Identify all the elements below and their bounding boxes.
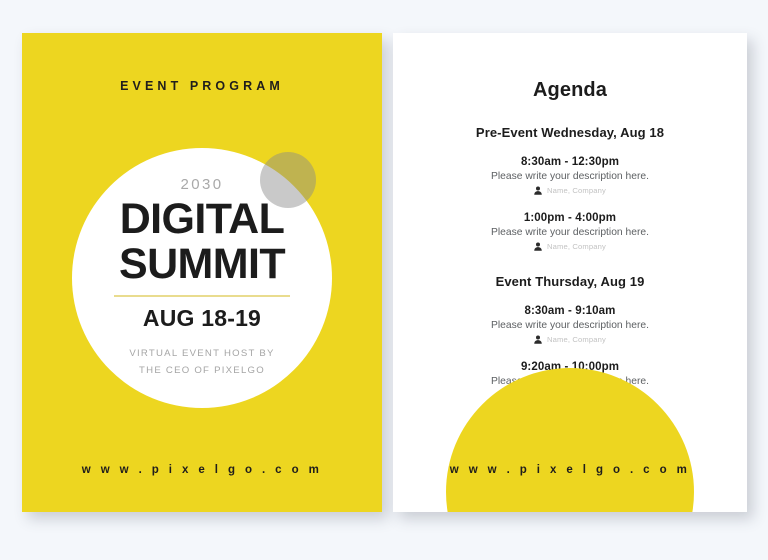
agenda-slot-speaker-name: Name, Company	[547, 186, 606, 195]
cover-title-line-2: SUMMIT	[119, 242, 285, 286]
cover-title-line-1: DIGITAL	[120, 197, 285, 241]
agenda-slot: 8:30am - 12:30pm Please write your descr…	[419, 156, 721, 195]
event-program-cover-poster: EVENT PROGRAM 2030 DIGITAL SUMMIT AUG 18…	[22, 33, 382, 512]
agenda-day-group: Pre-Event Wednesday, Aug 18 8:30am - 12:…	[419, 125, 721, 251]
agenda-slot: 1:00pm - 4:00pm Please write your descri…	[419, 212, 721, 251]
agenda-poster: Agenda Pre-Event Wednesday, Aug 18 8:30a…	[393, 33, 747, 512]
cover-title-block: 2030 DIGITAL SUMMIT AUG 18-19 VIRTUAL EV…	[72, 148, 332, 408]
cover-year-label: 2030	[181, 176, 224, 193]
cover-host-line-1: VIRTUAL EVENT HOST BY	[129, 346, 274, 363]
agenda-slot-speaker: Name, Company	[419, 335, 721, 344]
person-icon	[534, 186, 542, 195]
person-icon	[534, 335, 542, 344]
cover-dates-label: AUG 18-19	[143, 305, 261, 332]
cover-host-line-2: THE CEO OF PIXELGO	[129, 363, 274, 380]
agenda-slot-speaker: Name, Company	[419, 186, 721, 195]
poster-mockup-stage: EVENT PROGRAM 2030 DIGITAL SUMMIT AUG 18…	[0, 0, 768, 560]
agenda-slot-speaker-name: Name, Company	[547, 335, 606, 344]
cover-kicker-label: EVENT PROGRAM	[22, 79, 382, 93]
agenda-slot: 8:30am - 9:10am Please write your descri…	[419, 305, 721, 344]
agenda-page-title: Agenda	[393, 79, 747, 102]
agenda-day-list: Pre-Event Wednesday, Aug 18 8:30am - 12:…	[393, 125, 747, 400]
agenda-slot-speaker-name: Name, Company	[547, 242, 606, 251]
agenda-slot-description: Please write your description here.	[419, 227, 721, 238]
agenda-day-heading: Event Thursday, Aug 19	[419, 274, 721, 289]
agenda-slot-time: 8:30am - 12:30pm	[419, 156, 721, 168]
cover-host-block: VIRTUAL EVENT HOST BY THE CEO OF PIXELGO	[129, 346, 274, 380]
agenda-slot-description: Please write your description here.	[419, 320, 721, 331]
agenda-slot-time: 8:30am - 9:10am	[419, 305, 721, 317]
agenda-slot-description: Please write your description here.	[419, 171, 721, 182]
agenda-day-heading: Pre-Event Wednesday, Aug 18	[419, 125, 721, 140]
agenda-website-url: w w w . p i x e l g o . c o m	[393, 464, 747, 476]
person-icon	[534, 242, 542, 251]
agenda-slot-speaker: Name, Company	[419, 242, 721, 251]
cover-website-url: w w w . p i x e l g o . c o m	[22, 464, 382, 476]
cover-divider-rule	[114, 295, 290, 297]
agenda-slot-time: 1:00pm - 4:00pm	[419, 212, 721, 224]
